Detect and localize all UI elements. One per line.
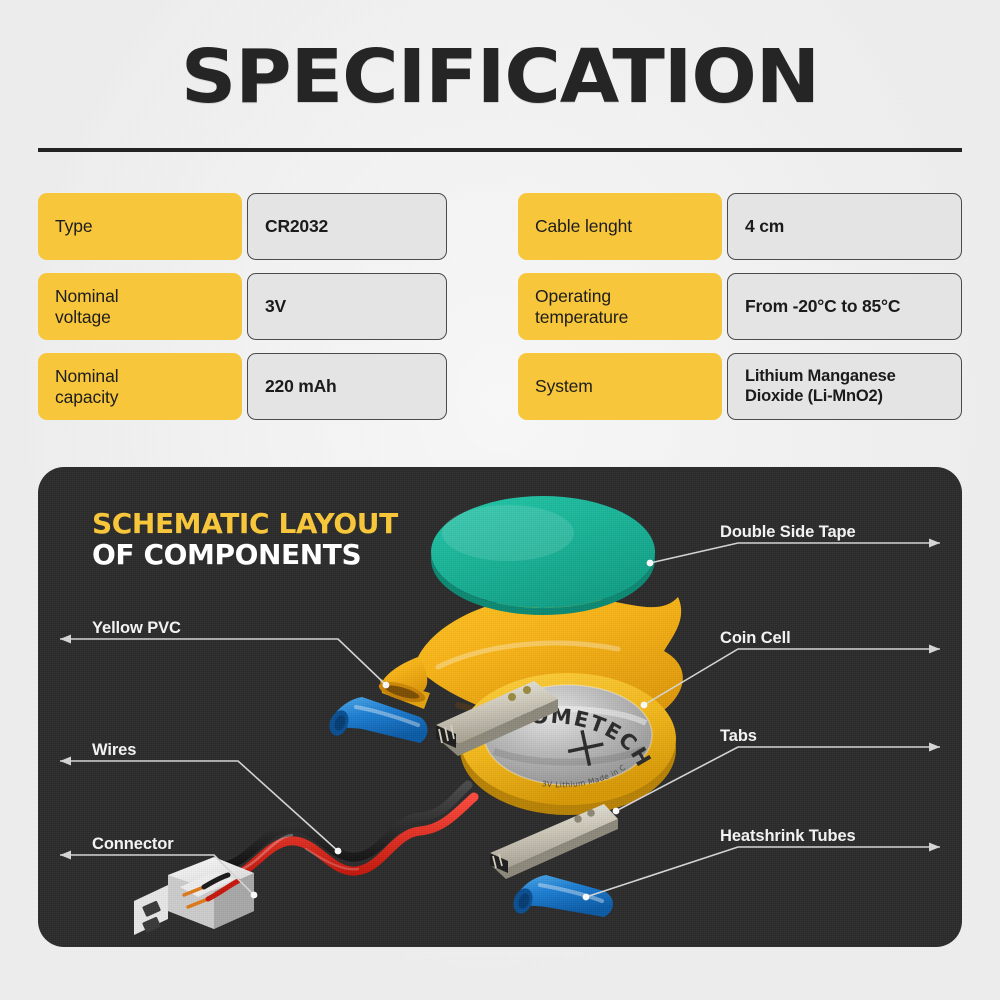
leader-double-side-tape xyxy=(647,539,940,567)
spec-value-type: CR2032 xyxy=(247,193,447,260)
twisted-wires xyxy=(220,785,474,879)
spec-row-type: Type CR2032 xyxy=(38,193,482,260)
double-side-tape xyxy=(431,496,655,615)
callout-label-connector: Connector xyxy=(92,835,174,854)
spec-key-type: Type xyxy=(38,193,242,260)
spec-key-nominal-voltage-line1: Nominal xyxy=(55,286,119,306)
schematic-heading-line2: OF COMPONENTS xyxy=(92,539,398,570)
leader-heatshrink-tubes xyxy=(583,843,940,901)
schematic-heading: SCHEMATIC LAYOUT OF COMPONENTS xyxy=(92,508,398,571)
callout-label-wires: Wires xyxy=(92,741,136,760)
spec-row-system: System Lithium Manganese Dioxide (Li-MnO… xyxy=(518,353,962,420)
callout-label-heatshrink-tubes: Heatshrink Tubes xyxy=(720,827,856,846)
spec-value-system-line2: Dioxide (Li-MnO2) xyxy=(745,387,883,405)
spec-key-nominal-capacity: Nominal capacity xyxy=(38,353,242,420)
spec-key-nominal-voltage: Nominal voltage xyxy=(38,273,242,340)
spec-value-system: Lithium Manganese Dioxide (Li-MnO2) xyxy=(727,353,962,420)
spec-value-operating-temperature: From -20°C to 85°C xyxy=(727,273,962,340)
spec-row-cable-length: Cable lenght 4 cm xyxy=(518,193,962,260)
spec-row-nominal-voltage: Nominal voltage 3V xyxy=(38,273,482,340)
spec-value-cable-length: 4 cm xyxy=(727,193,962,260)
spec-row-operating-temperature: Operating temperature From -20°C to 85°C xyxy=(518,273,962,340)
leader-coin-cell xyxy=(641,645,940,709)
spec-row-nominal-capacity: Nominal capacity 220 mAh xyxy=(38,353,482,420)
specification-table: Type CR2032 Cable lenght 4 cm Nominal vo… xyxy=(38,193,962,420)
spec-key-operating-temperature-line2: temperature xyxy=(535,307,628,327)
spec-value-nominal-capacity: 220 mAh xyxy=(247,353,447,420)
spec-key-operating-temperature-line1: Operating xyxy=(535,286,611,306)
tab-lower xyxy=(490,804,618,879)
leader-yellow-pvc xyxy=(60,635,389,689)
callout-label-coin-cell: Coin Cell xyxy=(720,629,791,648)
spec-key-cable-length: Cable lenght xyxy=(518,193,722,260)
spec-value-nominal-voltage: 3V xyxy=(247,273,447,340)
spec-key-nominal-capacity-line2: capacity xyxy=(55,387,118,407)
title-divider xyxy=(38,148,962,152)
spec-key-nominal-voltage-line2: voltage xyxy=(55,307,111,327)
callout-label-yellow-pvc: Yellow PVC xyxy=(92,619,181,638)
page-title: SPECIFICATION xyxy=(0,40,1000,114)
callout-label-tabs: Tabs xyxy=(720,727,757,746)
schematic-heading-line1: SCHEMATIC LAYOUT xyxy=(92,508,398,539)
callout-label-double-side-tape: Double Side Tape xyxy=(720,523,856,542)
spec-key-system: System xyxy=(518,353,722,420)
spec-key-nominal-capacity-line1: Nominal xyxy=(55,366,119,386)
spec-value-system-line1: Lithium Manganese xyxy=(745,367,896,385)
jst-connector xyxy=(134,857,254,935)
heatshrink-tube-lower xyxy=(510,875,613,917)
header: SPECIFICATION xyxy=(0,40,1000,114)
spec-key-operating-temperature: Operating temperature xyxy=(518,273,722,340)
schematic-panel: Li ROMETECH 3V Lithium Made in China xyxy=(38,467,962,947)
